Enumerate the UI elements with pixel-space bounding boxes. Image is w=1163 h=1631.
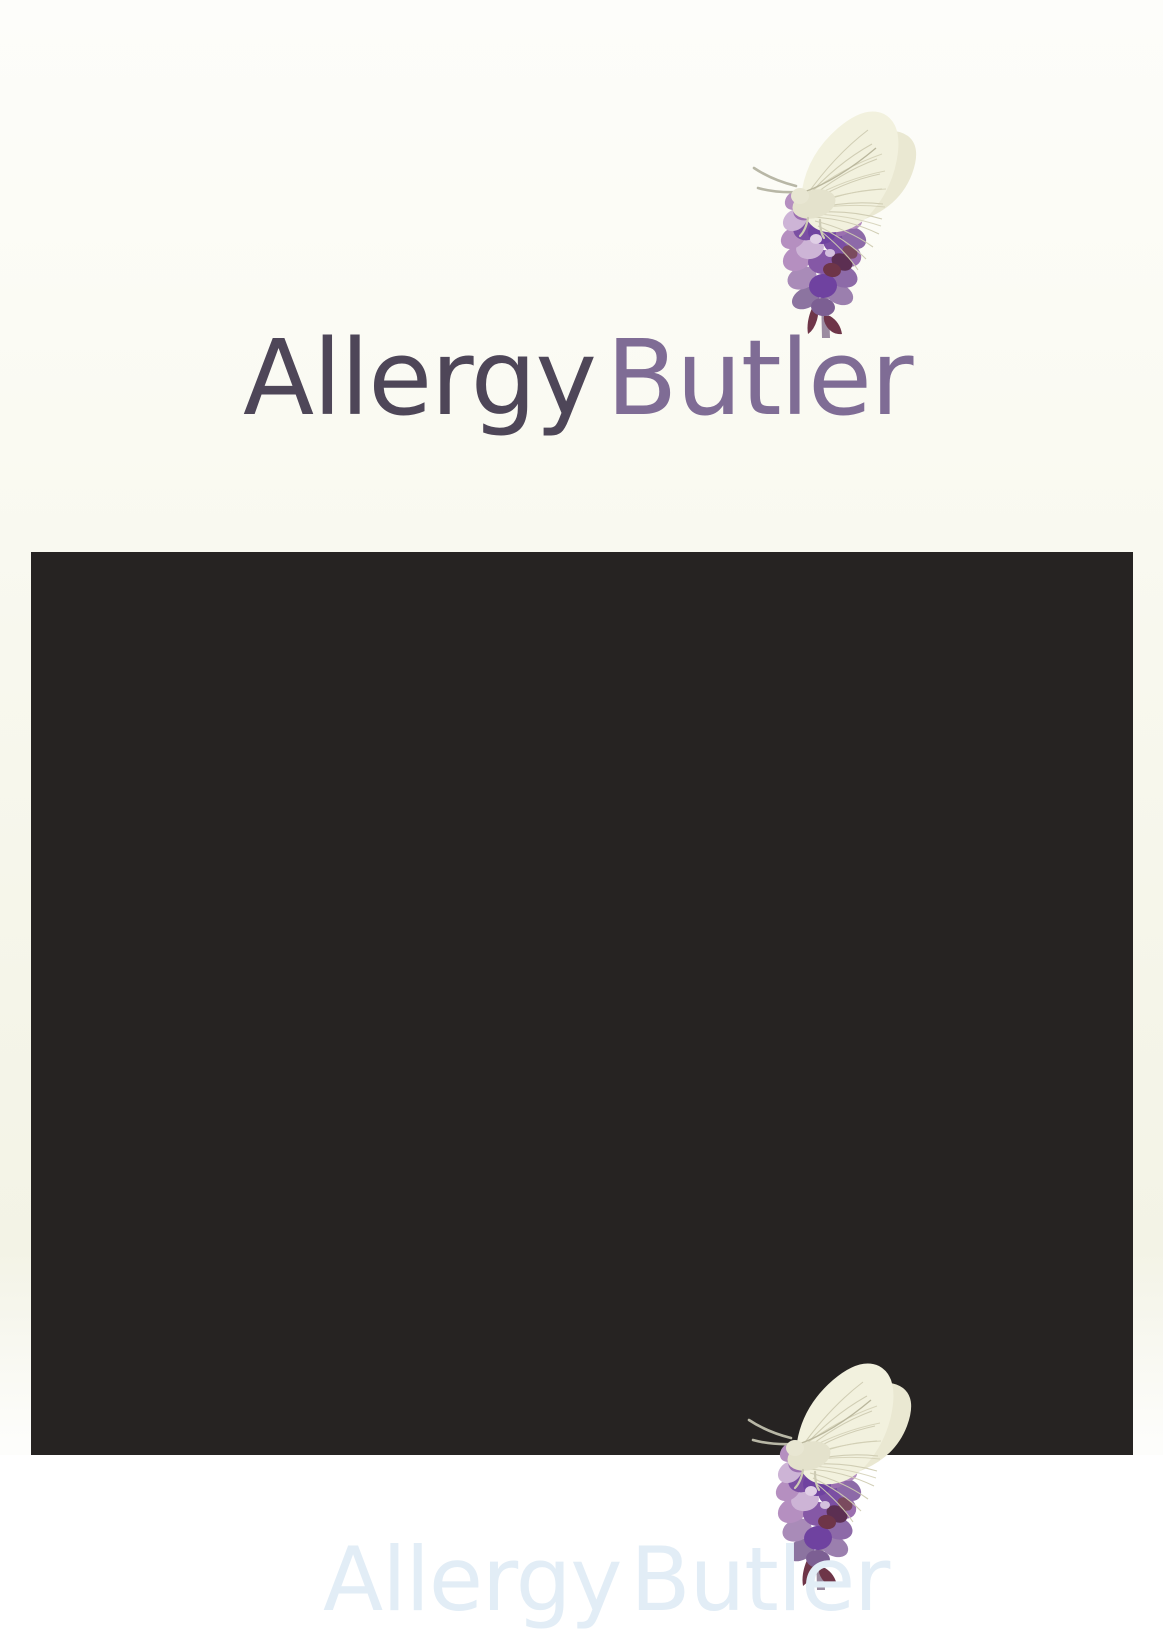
wordmark-word-allergy: Allergy <box>243 317 596 439</box>
wordmark-word-butler-dark: Butler <box>630 1528 889 1631</box>
dark-logo-board: AllergyButler <box>31 552 1133 1455</box>
butterfly-illustration <box>754 111 916 270</box>
lilac-flower-cluster <box>777 186 871 338</box>
butterfly-on-lilac-emblem-light <box>738 102 914 350</box>
light-logo-board: AllergyButler <box>0 0 1163 552</box>
presentation-canvas: AllergyButler AllergyButler <box>0 0 1163 1455</box>
butterfly-illustration <box>749 1363 911 1522</box>
wordmark-word-butler: Butler <box>606 317 912 439</box>
wordmark-dark: AllergyButler <box>323 1536 889 1624</box>
wordmark-light: AllergyButler <box>243 326 912 430</box>
wordmark-word-allergy-dark: Allergy <box>323 1528 621 1631</box>
